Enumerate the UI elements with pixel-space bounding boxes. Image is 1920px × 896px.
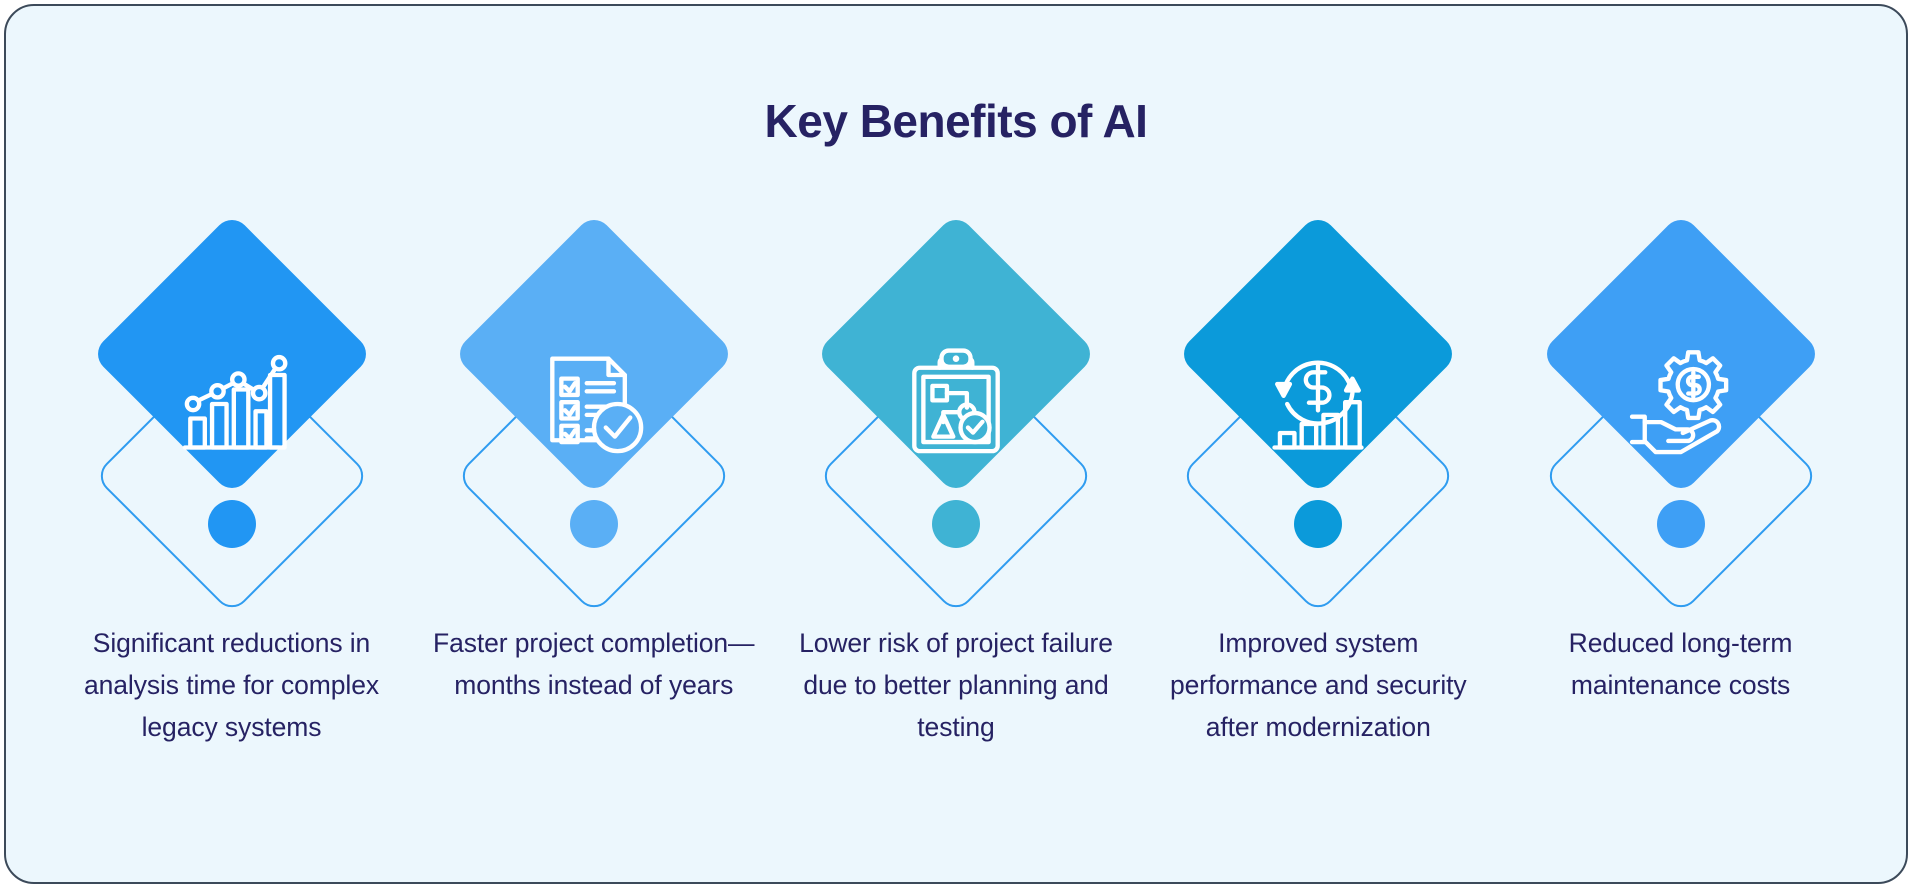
hand-holding-gear-dollar-icon [1623,346,1739,462]
checklist-document-approved-icon [536,346,652,462]
benefit-item-3[interactable]: Lower risk of project failure due to bet… [779,254,1134,748]
page-title: Key Benefits of AI [6,94,1906,148]
benefit-dot-4 [1294,500,1342,548]
benefit-badge-1 [96,254,368,576]
benefit-caption-1: Significant reductions in analysis time … [82,622,382,748]
clipboard-plan-check-icon [898,346,1014,462]
benefit-item-1[interactable]: Significant reductions in analysis time … [54,254,409,748]
benefit-caption-2: Faster project completion—months instead… [416,622,771,706]
benefit-badge-5 [1545,254,1817,576]
benefit-caption-3: Lower risk of project failure due to bet… [779,622,1134,748]
benefit-caption-5: Reduced long-term maintenance costs [1503,622,1858,706]
benefit-badge-4 [1182,254,1454,576]
benefit-caption-4: Improved system performance and security… [1141,622,1496,748]
benefit-dot-5 [1657,500,1705,548]
benefit-badge-3 [820,254,1092,576]
benefit-item-2[interactable]: Faster project completion—months instead… [416,254,771,748]
benefit-dot-2 [570,500,618,548]
bar-chart-growth-icon [174,346,290,462]
benefit-dot-3 [932,500,980,548]
benefits-row: Significant reductions in analysis time … [6,254,1906,748]
infographic-card: Key Benefits of AI [4,4,1908,884]
benefit-badge-2 [458,254,730,576]
benefit-item-5[interactable]: Reduced long-term maintenance costs [1503,254,1858,748]
dollar-cycle-bar-chart-icon [1260,346,1376,462]
benefit-item-4[interactable]: Improved system performance and security… [1141,254,1496,748]
benefit-dot-1 [208,500,256,548]
